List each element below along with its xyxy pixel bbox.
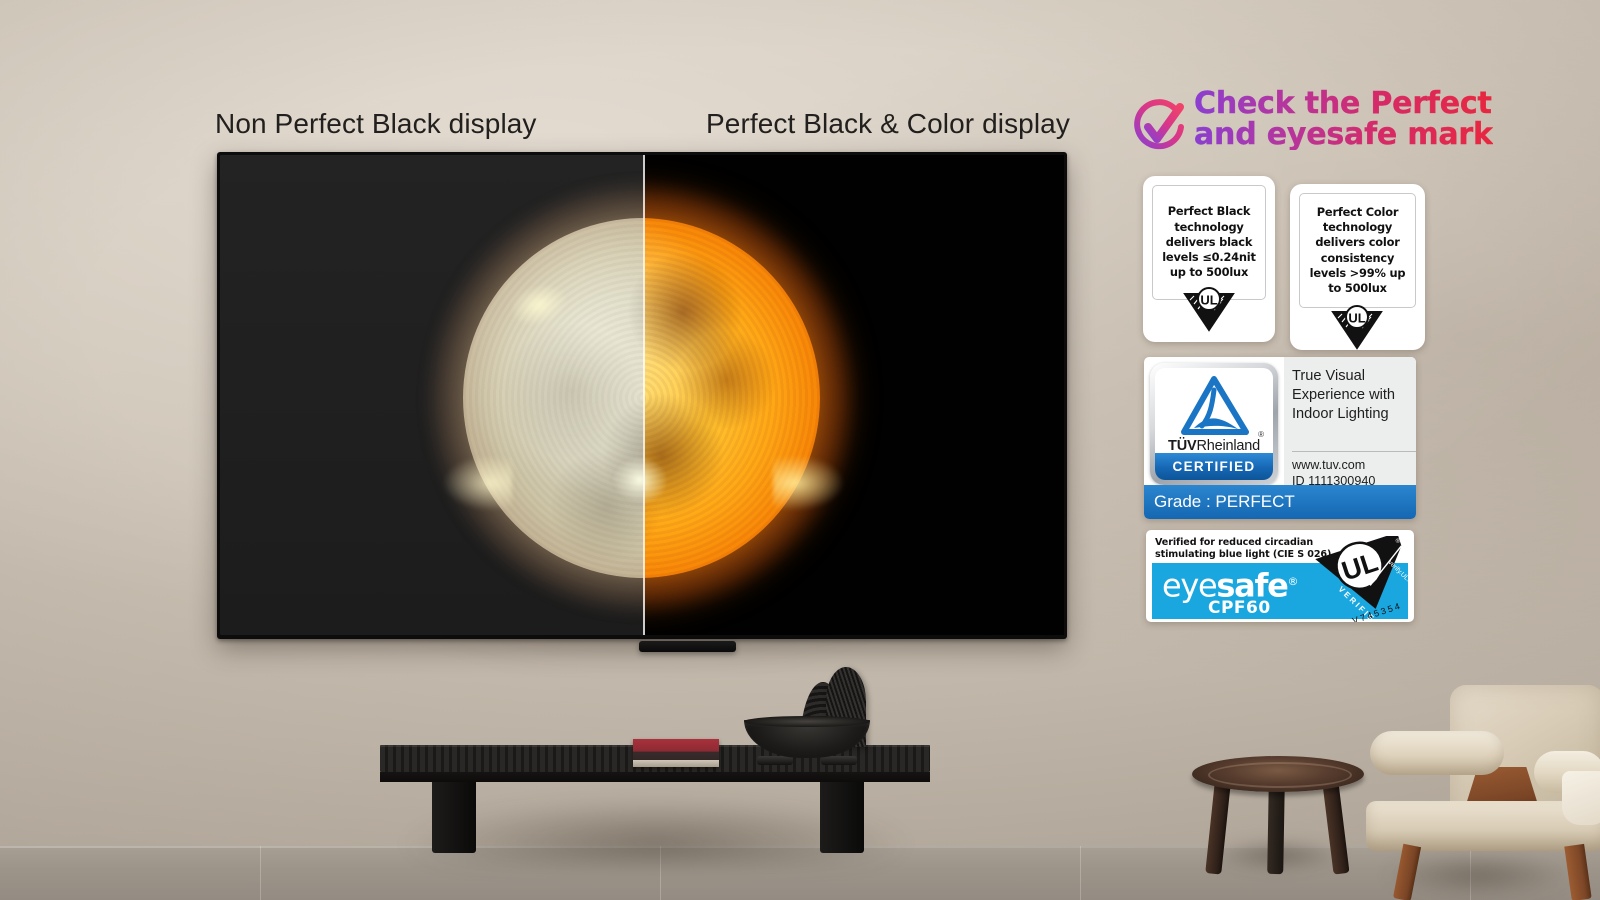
tuv-logo-block: ® TÜVRheinland CERTIFIED xyxy=(1150,363,1278,485)
tv-label-left: Non Perfect Black display xyxy=(215,108,537,140)
tuv-brand-prefix: TÜV xyxy=(1168,438,1196,454)
check-circle-icon xyxy=(1128,96,1190,158)
sun-image-right-half xyxy=(643,155,1064,635)
bowl-foot xyxy=(821,756,857,765)
eyesafe-wordmark: eyesafe® xyxy=(1162,566,1297,602)
sun-image-left-half xyxy=(220,155,643,635)
tv-frame xyxy=(217,152,1067,639)
certificate-card-perfect-color: Perfect Color technology delivers color … xyxy=(1290,184,1425,350)
svg-text:UL: UL xyxy=(1200,293,1217,308)
svg-text:verify.UL.com: verify.UL.com xyxy=(1387,559,1414,592)
tuv-url: www.tuv.com xyxy=(1292,457,1375,473)
ul-verified-icon: UL xyxy=(1330,304,1384,350)
eyesafe-product-code: CPF60 xyxy=(1208,598,1271,618)
certificate-cards: Perfect Black technology delivers black … xyxy=(1143,176,1443,356)
certificate-text: Perfect Color technology delivers color … xyxy=(1303,205,1412,296)
certificate-text: Perfect Black technology delivers black … xyxy=(1156,204,1262,280)
tuv-rheinland-card: True Visual Experience with Indoor Light… xyxy=(1144,357,1416,519)
screen-split-divider xyxy=(643,155,645,635)
certification-panel: Check the Perfect and eyesafe mark Perfe… xyxy=(1120,92,1600,162)
tuv-triangle-icon xyxy=(1176,376,1252,438)
ul-verified-icon: UL xyxy=(1182,286,1236,332)
svg-text:®: ® xyxy=(1395,537,1402,545)
tuv-info-panel: True Visual Experience with Indoor Light… xyxy=(1284,357,1416,485)
tuv-certified-label: CERTIFIED xyxy=(1155,453,1273,480)
tuv-brand: TÜVRheinland xyxy=(1155,438,1273,454)
side-stool xyxy=(1192,756,1364,874)
floor-seam xyxy=(1080,846,1081,900)
svg-text:UL: UL xyxy=(1348,311,1365,326)
bowl-foot xyxy=(757,756,793,765)
marks-header: Check the Perfect and eyesafe mark xyxy=(1120,92,1600,162)
tuv-grade-bar: Grade : PERFECT xyxy=(1144,485,1416,519)
floor-seam xyxy=(260,846,261,900)
armchair xyxy=(1352,685,1600,900)
eyesafe-card: Verified for reduced circadian stimulati… xyxy=(1146,530,1414,622)
tv-label-right: Perfect Black & Color display xyxy=(706,108,1070,140)
ul-verified-diamond-icon: UL VERIFIED verify.UL.com ® V745354 xyxy=(1306,536,1414,622)
tuv-divider xyxy=(1292,451,1416,452)
decor-bowl-rim xyxy=(744,716,870,727)
certificate-card-perfect-black: Perfect Black technology delivers black … xyxy=(1143,176,1275,342)
marks-header-line2: and eyesafe mark xyxy=(1194,119,1493,150)
television xyxy=(217,152,1067,639)
tv-screen xyxy=(220,155,1064,635)
tuv-claim-text: True Visual Experience with Indoor Light… xyxy=(1292,367,1412,424)
tuv-brand-suffix: Rheinland xyxy=(1196,438,1260,454)
room-scene: Non Perfect Black display Perfect Black … xyxy=(0,0,1600,900)
marks-header-line1: Check the Perfect xyxy=(1194,88,1493,119)
tv-cable-bar xyxy=(639,641,736,652)
eyesafe-registered-mark: ® xyxy=(1288,575,1298,588)
decor-book-pages xyxy=(633,760,719,767)
